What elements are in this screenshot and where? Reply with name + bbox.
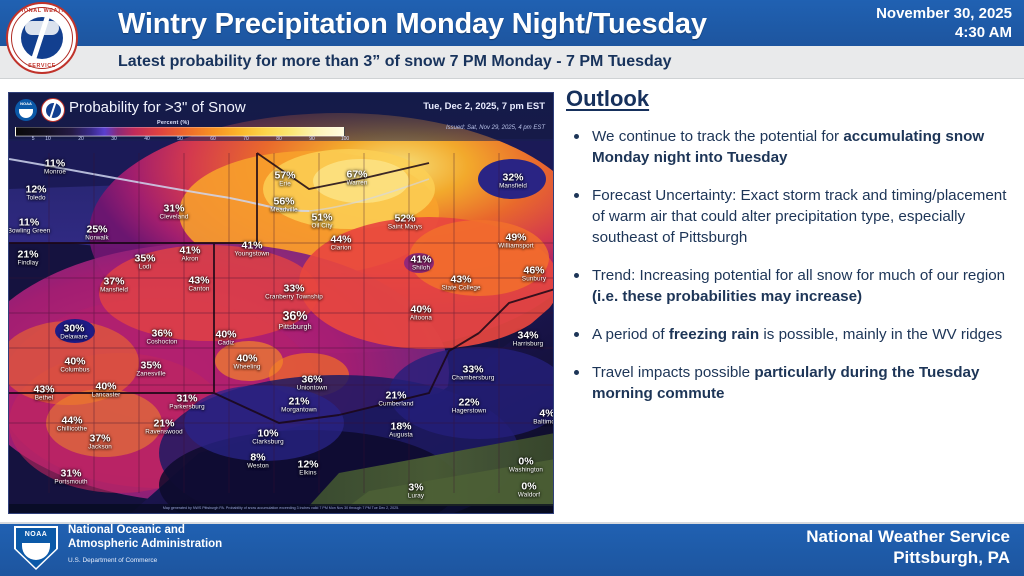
colorbar-tick: 5 — [32, 136, 35, 142]
noaa-gull-icon — [19, 109, 33, 118]
outlook-bullet: A period of freezing rain is possible, m… — [566, 324, 1018, 345]
colorbar-tick: 50 — [177, 136, 183, 142]
outlook-bullet: Forecast Uncertainty: Exact storm track … — [566, 185, 1018, 248]
outlook-heading: Outlook — [566, 86, 1018, 112]
colorbar-tick: 100 — [341, 136, 349, 142]
colorbar-title: Percent (%) — [157, 120, 189, 126]
colorbar-ticks: 5102030405060708090100 — [9, 136, 351, 146]
logo-bottom-text: SERVICE — [8, 63, 76, 69]
noaa-logo-text: NOAA — [14, 531, 58, 538]
office-line-1: National Weather Service — [806, 526, 1010, 547]
noaa-logo: NOAA — [14, 526, 58, 570]
probability-map[interactable]: NOAA Probability for >3" of Snow Tue, De… — [8, 92, 554, 514]
outlook-bullet: Trend: Increasing potential for all snow… — [566, 265, 1018, 307]
colorbar-tick: 10 — [45, 136, 51, 142]
outlook-bullet-list: We continue to track the potential for a… — [566, 126, 1018, 404]
map-issued-time: Issued: Sat, Nov 29, 2025, 4 pm EST — [446, 125, 545, 131]
map-valid-time: Tue, Dec 2, 2025, 7 pm EST — [423, 101, 545, 112]
noaa-icon: NOAA — [15, 99, 37, 121]
colorbar-tick: 20 — [78, 136, 84, 142]
office-line-2: Pittsburgh, PA — [806, 547, 1010, 568]
agency-line-1: National Oceanic and — [68, 524, 185, 536]
colorbar-tick: 90 — [309, 136, 315, 142]
department-line: U.S. Department of Commerce — [68, 554, 222, 568]
header-date: November 30, 2025 — [782, 4, 1012, 23]
agency-name: National Oceanic and Atmospheric Adminis… — [68, 523, 222, 568]
logo-top-text: NATIONAL WEATHER — [8, 8, 76, 14]
outlook-bullet: Travel impacts possible particularly dur… — [566, 362, 1018, 404]
map-raster — [9, 93, 554, 514]
nws-small-logo-icon — [41, 98, 65, 122]
noaa-icon-label: NOAA — [15, 101, 37, 106]
outlook-bullet-emphasis: freezing rain — [669, 326, 759, 343]
outlook-bullet-emphasis: accumulating snow Monday night into Tues… — [592, 128, 984, 166]
outlook-bullet-emphasis: (i.e. these probabilities may increase) — [592, 288, 862, 305]
map-title: Probability for >3" of Snow — [69, 99, 246, 116]
colorbar-tick: 70 — [243, 136, 249, 142]
colorbar-tick: 40 — [144, 136, 150, 142]
colorbar — [15, 127, 345, 136]
slide: NATIONAL WEATHER SERVICE Wintry Precipit… — [0, 0, 1024, 576]
map-credit: Map generated by NWS Pittsburgh PA. Prob… — [9, 504, 553, 513]
colorbar-tick: 30 — [111, 136, 117, 142]
colorbar-tick: 80 — [276, 136, 282, 142]
outlook-bullet-emphasis: particularly during the Tuesday morning … — [592, 364, 979, 402]
colorbar-tick: 60 — [210, 136, 216, 142]
header-timestamp: November 30, 2025 4:30 AM — [782, 4, 1012, 42]
page-title: Wintry Precipitation Monday Night/Tuesda… — [118, 5, 818, 43]
agency-line-2: Atmospheric Administration — [68, 538, 222, 550]
header-time: 4:30 AM — [782, 23, 1012, 42]
office-name: National Weather Service Pittsburgh, PA — [806, 526, 1010, 568]
subtitle: Latest probability for more than 3” of s… — [118, 46, 672, 78]
outlook-panel: Outlook We continue to track the potenti… — [566, 86, 1018, 514]
outlook-bullet: We continue to track the potential for a… — [566, 126, 1018, 168]
nws-logo: NATIONAL WEATHER SERVICE — [6, 2, 78, 74]
map-canvas — [9, 93, 553, 513]
